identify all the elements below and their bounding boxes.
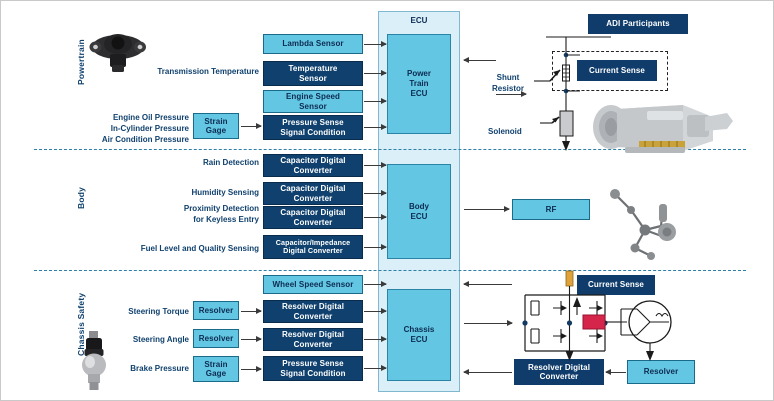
arrow-temperature-to-ecu bbox=[364, 73, 386, 74]
caption-steering-torque: Steering Torque bbox=[127, 307, 189, 318]
block-cdc-humidity-line1: Capacitor Digital bbox=[280, 184, 345, 193]
chassis-ecu-line2: ECU bbox=[404, 335, 435, 345]
powertrain-ecu-line2: Train bbox=[407, 79, 431, 89]
rdc-chassis-line1: Resolver Digital bbox=[528, 363, 590, 372]
caption-fuel-level-quality-sensing: Fuel Level and Quality Sensing bbox=[123, 244, 259, 255]
chassis-ecu-line1: Chassis bbox=[404, 325, 435, 335]
block-wheel-speed-sensor[interactable]: Wheel Speed Sensor bbox=[263, 275, 363, 294]
arrow-bodyecu-to-rf bbox=[464, 209, 509, 210]
block-lambda-sensor[interactable]: Lambda Sensor bbox=[263, 34, 363, 54]
three-phase-inverter-motor-circuit bbox=[509, 271, 699, 363]
block-cdc-proximity-line2: Converter bbox=[280, 218, 345, 227]
ecu-panel-label: ECU bbox=[379, 16, 459, 25]
caption-brake-pressure: Brake Pressure bbox=[127, 364, 189, 375]
rf-block[interactable]: RF bbox=[512, 199, 590, 220]
caption-in-cylinder-pressure: In-Cylinder Pressure bbox=[101, 124, 189, 135]
block-lambda-sensor-label: Lambda Sensor bbox=[282, 39, 343, 48]
suspension-photo bbox=[605, 186, 695, 264]
block-cdc-rain-line1: Capacitor Digital bbox=[280, 156, 345, 165]
strain-gage-brake[interactable]: Strain Gage bbox=[193, 356, 239, 382]
powertrain-ecu-block[interactable]: Power Train ECU bbox=[387, 34, 451, 134]
arrow-chassisecu-from-rdc bbox=[464, 372, 512, 373]
block-capacitor-digital-converter-humidity[interactable]: Capacitor Digital Converter bbox=[263, 182, 363, 205]
resolver-chassis[interactable]: Resolver bbox=[627, 360, 695, 384]
resolver-steering-angle-label: Resolver bbox=[199, 334, 234, 343]
block-capacitor-impedance-digital-converter[interactable]: Capacitor/Impedance Digital Converter bbox=[263, 235, 363, 259]
arrow-wheelspeed-to-ecu bbox=[364, 284, 386, 285]
arrow-rdctorque-to-ecu bbox=[364, 311, 386, 312]
strain-gage-powertrain-line2: Gage bbox=[204, 126, 227, 135]
block-engine-speed-sensor[interactable]: Engine Speed Sensor bbox=[263, 90, 363, 113]
block-engine-speed-sensor-line1: Engine Speed bbox=[286, 92, 340, 101]
arrow-rain-to-ecu bbox=[364, 165, 386, 166]
block-rdc-angle-line1: Resolver Digital bbox=[282, 330, 344, 339]
strain-gage-powertrain[interactable]: Strain Gage bbox=[193, 113, 239, 139]
block-cdc-humidity-line2: Converter bbox=[280, 194, 345, 203]
pressure-sensor-photo bbox=[89, 27, 147, 75]
chassis-ecu-block[interactable]: Chassis ECU bbox=[387, 289, 451, 381]
caption-proximity-line1: Proximity Detection bbox=[153, 204, 259, 215]
adi-participants-label: ADI Participants bbox=[606, 19, 669, 28]
block-temperature-sensor-line2: Sensor bbox=[289, 74, 338, 83]
block-cidc-line2: Digital Converter bbox=[276, 247, 351, 255]
block-temperature-sensor-line1: Temperature bbox=[289, 64, 338, 73]
block-pressure-sense-powertrain-line2: Signal Condition bbox=[280, 128, 345, 137]
arrow-straingage-to-pressuresense-brake bbox=[241, 369, 261, 370]
arrow-enginespeed-to-ecu bbox=[364, 101, 386, 102]
caption-powertrain-pressures: Engine Oil Pressure In-Cylinder Pressure… bbox=[101, 113, 189, 145]
arrow-fuel-to-ecu bbox=[364, 247, 386, 248]
block-pressure-sense-brake-line2: Signal Condition bbox=[280, 369, 345, 378]
block-engine-speed-sensor-line2: Sensor bbox=[286, 102, 340, 111]
arrow-resolver-to-rdc-angle bbox=[241, 339, 261, 340]
block-pressure-sense-powertrain-line1: Pressure Sense bbox=[280, 118, 345, 127]
resolver-steering-torque-label: Resolver bbox=[199, 306, 234, 315]
block-capacitor-digital-converter-rain[interactable]: Capacitor Digital Converter bbox=[263, 154, 363, 177]
resolver-chassis-label: Resolver bbox=[644, 367, 679, 376]
rdc-chassis-line2: Converter bbox=[528, 372, 590, 381]
block-resolver-digital-converter-torque[interactable]: Resolver Digital Converter bbox=[263, 300, 363, 323]
arrow-pressuresensebrake-to-ecu bbox=[364, 368, 386, 369]
powertrain-ecu-line1: Power bbox=[407, 69, 431, 79]
section-label-powertrain: Powertrain bbox=[75, 23, 87, 101]
arrow-chassisecu-to-inverter bbox=[464, 323, 512, 324]
arrow-ecu-to-solenoid bbox=[496, 94, 526, 95]
block-cdc-proximity-line1: Capacitor Digital bbox=[280, 208, 345, 217]
adi-participants-legend: ADI Participants bbox=[588, 14, 688, 34]
strain-gage-brake-line2: Gage bbox=[204, 369, 227, 378]
arrow-proximity-to-ecu bbox=[364, 217, 386, 218]
resolver-steering-torque[interactable]: Resolver bbox=[193, 301, 239, 320]
body-ecu-block[interactable]: Body ECU bbox=[387, 164, 451, 259]
strain-gage-powertrain-line1: Strain bbox=[204, 117, 227, 126]
rf-label: RF bbox=[546, 205, 557, 214]
arrow-ecu-from-currentsense bbox=[464, 60, 496, 61]
resolver-steering-angle[interactable]: Resolver bbox=[193, 329, 239, 348]
caption-rain-detection: Rain Detection bbox=[161, 158, 259, 169]
arrow-resolver-to-rdc-torque bbox=[241, 311, 261, 312]
arrow-rdcangle-to-ecu bbox=[364, 339, 386, 340]
block-capacitor-digital-converter-proximity[interactable]: Capacitor Digital Converter bbox=[263, 206, 363, 229]
caption-air-condition-pressure: Air Condition Pressure bbox=[101, 135, 189, 146]
block-pressure-sense-brake-line1: Pressure Sense bbox=[280, 359, 345, 368]
caption-engine-oil-pressure: Engine Oil Pressure bbox=[101, 113, 189, 124]
caption-proximity-line2: for Keyless Entry bbox=[153, 215, 259, 226]
arrow-lambda-to-ecu bbox=[364, 44, 386, 45]
body-ecu-line1: Body bbox=[409, 202, 429, 212]
transmission-photo bbox=[587, 97, 771, 157]
powertrain-ecu-line3: ECU bbox=[407, 89, 431, 99]
block-rdc-torque-line1: Resolver Digital bbox=[282, 302, 344, 311]
block-temperature-sensor[interactable]: Temperature Sensor bbox=[263, 61, 363, 86]
section-label-body: Body bbox=[75, 176, 87, 220]
block-pressure-sense-powertrain[interactable]: Pressure Sense Signal Condition bbox=[263, 115, 363, 140]
brake-pressure-sensor-photo bbox=[77, 331, 111, 391]
arrow-pressuresense-to-ecu bbox=[364, 127, 386, 128]
block-rdc-torque-line2: Converter bbox=[282, 312, 344, 321]
arrow-chassisecu-from-currentsense bbox=[464, 284, 512, 285]
block-wheel-speed-sensor-label: Wheel Speed Sensor bbox=[273, 280, 354, 289]
strain-gage-brake-line1: Strain bbox=[204, 360, 227, 369]
caption-steering-angle: Steering Angle bbox=[127, 335, 189, 346]
arrow-straingage-to-pressuresense bbox=[241, 126, 261, 127]
block-rdc-angle-line2: Converter bbox=[282, 340, 344, 349]
block-cdc-rain-line2: Converter bbox=[280, 166, 345, 175]
diagram-canvas: ECU Power Train ECU Body ECU Chassis ECU… bbox=[0, 0, 774, 401]
body-ecu-line2: ECU bbox=[409, 212, 429, 222]
block-pressure-sense-brake[interactable]: Pressure Sense Signal Condition bbox=[263, 356, 363, 381]
caption-humidity-sensing: Humidity Sensing bbox=[161, 188, 259, 199]
arrow-resolver-to-rdc-chassis bbox=[606, 372, 626, 373]
caption-proximity-detection: Proximity Detection for Keyless Entry bbox=[153, 204, 259, 226]
caption-transmission-temperature: Transmission Temperature bbox=[141, 67, 259, 78]
block-resolver-digital-converter-angle[interactable]: Resolver Digital Converter bbox=[263, 328, 363, 351]
caption-shunt-line1: Shunt bbox=[486, 73, 530, 84]
arrow-humidity-to-ecu bbox=[364, 193, 386, 194]
